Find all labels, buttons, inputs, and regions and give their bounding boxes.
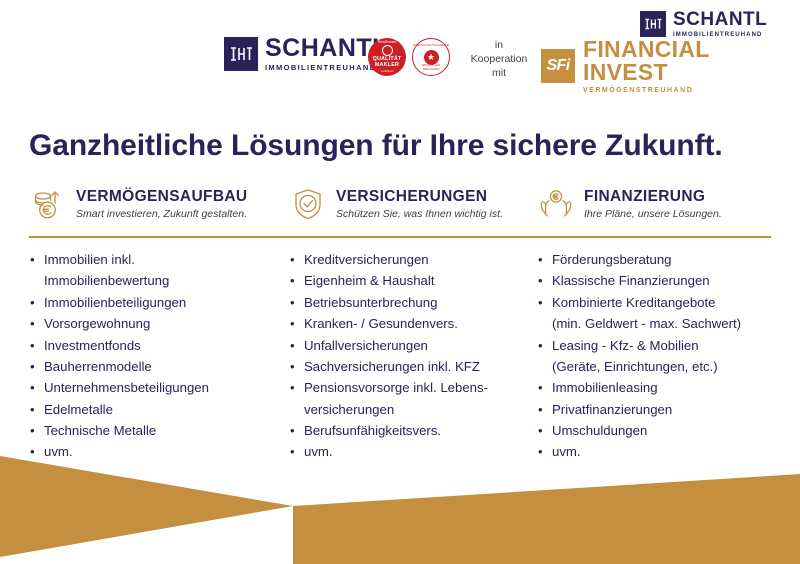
sfi-financial-invest-logo: SFi FINANCIAL INVEST VERMÖGENSTREUHAND [541,38,800,94]
list-item: Unfallversicherungen [290,335,538,356]
sfi-logo-name: FINANCIAL INVEST [583,38,800,84]
category-header-versicherungen: VERSICHERUNGEN Schützen Sie, was Ihnen w… [290,186,503,222]
service-column-versicherungen: KreditversicherungenEigenheim & Haushalt… [290,249,538,463]
footer-contacts: Office Wien: Passauer Platz 6 1010 Wien … [0,440,800,564]
section-divider [29,236,771,238]
list-item: Technische Metalle [30,420,280,441]
list-item: Privatfinanzierungen [538,399,788,420]
list-item: Immobilienbewertung [30,270,280,291]
ith-monogram-icon-corner [640,11,666,37]
category-text-block: VERMÖGENSAUFBAU Smart investieren, Zukun… [76,188,247,220]
header-logo-bar: SCHANTL IMMOBILIENTREUHAND RealEstate QU… [0,0,800,105]
category-header-row: VERMÖGENSAUFBAU Smart investieren, Zukun… [0,186,800,228]
service-column-vermoegensaufbau: Immobilien inkl.ImmobilienbewertungImmob… [30,249,280,463]
service-column-finanzierung: FörderungsberatungKlassische Finanzierun… [538,249,788,463]
list-item: Klassische Finanzierungen [538,270,788,291]
kooperation-line-2: Kooperation [466,53,532,67]
qualitaets-makler-seal-icon: RealEstate QUALITÄT MAKLER zertifiziert [368,38,406,76]
list-item: Betriebsunterbrechung [290,292,538,313]
sfi-monogram-icon: SFi [541,49,575,83]
list-item: Eigenheim & Haushalt [290,270,538,291]
seal-ring-icon [382,45,393,56]
list-item: Immobilienbeteiligungen [30,292,280,313]
list-item: Pensionsvorsorge inkl. Lebens- [290,377,538,398]
list-item: Immobilienleasing [538,377,788,398]
category-text-block: FINANZIERUNG Ihre Pläne, unsere Lösungen… [584,188,722,220]
list-item: Sachversicherungen inkl. KFZ [290,356,538,377]
category-title: FINANZIERUNG [584,188,722,206]
coins-euro-growth-icon [30,186,66,222]
poster-root: SCHANTL IMMOBILIENTREUHAND RealEstate QU… [0,0,800,564]
category-title: VERMÖGENSAUFBAU [76,188,247,206]
list-item: Vorsorgewohnung [30,313,280,334]
ith-schantl-logo: SCHANTL IMMOBILIENTREUHAND [224,36,388,72]
page-title: Ganzheitliche Lösungen für Ihre sichere … [29,129,723,163]
list-item: Umschuldungen [538,420,788,441]
list-item: Kreditversicherungen [290,249,538,270]
sfi-monogram-text: SFi [546,57,569,75]
category-tagline: Ihre Pläne, unsere Lösungen. [584,208,722,220]
sfi-logo-subtitle: VERMÖGENSTREUHAND [583,87,800,94]
kooperation-label: in Kooperation mit [466,39,532,81]
shield-check-icon [290,186,326,222]
list-item: Berufsunfähigkeitsvers. [290,420,538,441]
category-tagline: Smart investieren, Zukunft gestalten. [76,208,247,220]
service-list: KreditversicherungenEigenheim & Haushalt… [290,249,538,463]
list-item: Förderungsberatung [538,249,788,270]
category-tagline: Schützen Sie, was Ihnen wichtig ist. [336,208,503,220]
ith-monogram-icon [224,37,258,71]
list-item: Kombinierte Kreditangebote [538,292,788,313]
kooperation-line-1: in [466,39,532,53]
wappen-top-text: WIRTSCHAFTSKAMMER [413,43,449,47]
wirtschaftskammer-seal-icon: WIRTSCHAFTSKAMMER ★ IMMOBILIEN TREUHAND [412,38,450,76]
seal-main-line-2: MAKLER [375,63,399,69]
category-header-vermoegensaufbau: VERMÖGENSAUFBAU Smart investieren, Zukun… [30,186,247,222]
ith-wordmark-corner: SCHANTL IMMOBILIENTREUHAND [673,10,767,38]
seal-top-text: RealEstate [378,41,397,45]
list-item: Kranken- / Gesundenvers. [290,313,538,334]
category-title: VERSICHERUNGEN [336,188,503,206]
category-header-finanzierung: FINANZIERUNG Ihre Pläne, unsere Lösungen… [538,186,722,222]
list-item: Unternehmensbeteiligungen [30,377,280,398]
hands-euro-coin-icon [538,186,574,222]
ith-schantl-logo-corner: SCHANTL IMMOBILIENTREUHAND [640,10,767,38]
list-item: (min. Geldwert - max. Sachwert) [538,313,788,334]
list-item: Bauherrenmodelle [30,356,280,377]
kooperation-line-3: mit [466,67,532,81]
ith-logo-name-corner: SCHANTL [673,10,767,29]
service-list: Immobilien inkl.ImmobilienbewertungImmob… [30,249,280,463]
list-item: Investmentfonds [30,335,280,356]
list-item: (Geräte, Einrichtungen, etc.) [538,356,788,377]
sfi-wordmark: FINANCIAL INVEST VERMÖGENSTREUHAND [583,38,800,94]
category-text-block: VERSICHERUNGEN Schützen Sie, was Ihnen w… [336,188,503,220]
wappen-bottom-text: IMMOBILIEN TREUHAND [413,63,449,71]
list-item: versicherungen [290,399,538,420]
list-item: Leasing - Kfz- & Mobilien [538,335,788,356]
seal-foot-text: zertifiziert [381,70,394,73]
ith-logo-subtitle-corner: IMMOBILIENTREUHAND [673,32,767,38]
list-item: Edelmetalle [30,399,280,420]
service-list: FörderungsberatungKlassische Finanzierun… [538,249,788,463]
list-item: Immobilien inkl. [30,249,280,270]
